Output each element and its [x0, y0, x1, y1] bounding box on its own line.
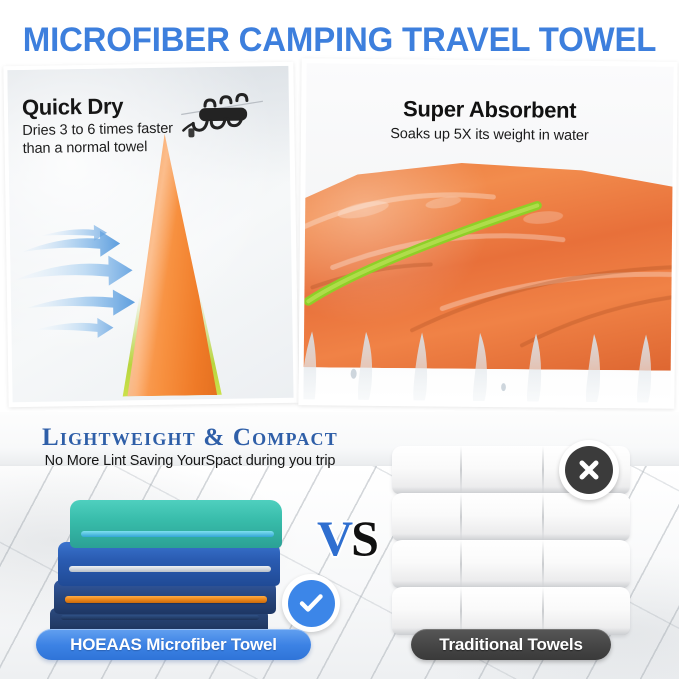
super-absorbent-text-block: Super Absorbent Soaks up 5X its weight i…	[306, 95, 673, 145]
vs-letter-v: V	[317, 510, 351, 566]
super-absorbent-subtext: Soaks up 5X its weight in water	[306, 125, 673, 145]
traditional-towel-caption: Traditional Towels	[411, 629, 611, 660]
quick-dry-heading: Quick Dry	[22, 94, 173, 119]
x-badge-icon	[559, 440, 619, 500]
quick-dry-subtext-line1: Dries 3 to 6 times faster	[22, 120, 173, 141]
super-absorbent-heading: Super Absorbent	[306, 95, 673, 125]
header-title-bar: MICROFIBER CAMPING TRAVEL TOWEL	[0, 16, 679, 64]
quick-dry-text-block: Quick Dry Dries 3 to 6 times faster than…	[22, 94, 174, 159]
list-item	[392, 493, 630, 541]
top-panels-row: Quick Dry Dries 3 to 6 times faster than…	[0, 58, 679, 413]
check-badge-icon	[282, 574, 340, 632]
panel-quick-dry: Quick Dry Dries 3 to 6 times faster than…	[3, 62, 298, 408]
page-title: MICROFIBER CAMPING TRAVEL TOWEL	[23, 21, 656, 60]
microfiber-towel-stack	[46, 492, 282, 647]
list-item	[70, 500, 282, 548]
comparison-subtext: No More Lint Saving YourSpact during you…	[0, 453, 380, 469]
vs-separator: VS	[311, 508, 383, 570]
hoeaas-towel-caption: HOEAAS Microfiber Towel	[36, 629, 311, 660]
water-drips-icon	[303, 331, 673, 403]
product-infographic: MICROFIBER CAMPING TRAVEL TOWEL	[0, 0, 679, 679]
list-item	[392, 587, 630, 635]
quick-dry-subtext-line2: than a normal towel	[23, 138, 174, 159]
wall-hook-rack-icon	[181, 91, 264, 144]
comparison-text-block: Lightweight & Compact No More Lint Savin…	[0, 424, 380, 469]
vs-letter-s: S	[351, 510, 377, 566]
comparison-heading: Lightweight & Compact	[0, 424, 380, 452]
airflow-arrows-icon	[12, 220, 164, 354]
list-item	[392, 540, 630, 588]
panel-super-absorbent: Super Absorbent Soaks up 5X its weight i…	[298, 58, 677, 409]
list-item	[58, 542, 280, 586]
